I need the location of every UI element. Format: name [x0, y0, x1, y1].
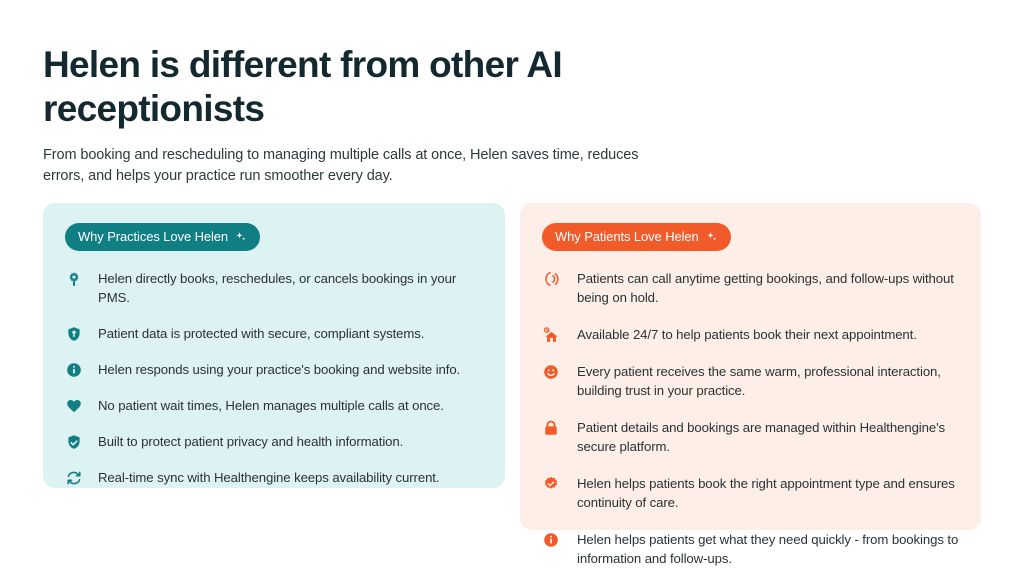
card-why-patients-love-helen: Why Patients Love Helen [520, 203, 981, 530]
list-item: Every patient receives the same warm, pr… [542, 362, 959, 400]
list-item-text: Patient data is protected with secure, c… [98, 324, 424, 343]
list-item: Helen responds using your practice's boo… [65, 360, 483, 379]
info-circle-icon [542, 531, 560, 549]
heart-icon [65, 397, 83, 415]
slide-root: Helen is different from other AI recepti… [0, 0, 1024, 576]
phone-ringing-icon [542, 270, 560, 288]
page-subtitle: From booking and rescheduling to managin… [43, 145, 663, 187]
list-item: Real-time sync with Healthengine keeps a… [65, 468, 483, 487]
list-item: Helen directly books, reschedules, or ca… [65, 269, 483, 307]
list-item-text: Real-time sync with Healthengine keeps a… [98, 468, 439, 487]
badge-label: Why Patients Love Helen [555, 229, 699, 244]
header: Helen is different from other AI recepti… [43, 43, 663, 187]
list-item-text: Helen helps patients book the right appo… [577, 474, 959, 512]
shield-check-icon [65, 433, 83, 451]
smiley-face-icon [542, 363, 560, 381]
list-item: Helen helps patients get what they need … [542, 530, 959, 568]
page-title: Helen is different from other AI recepti… [43, 43, 663, 131]
list-item-text: Built to protect patient privacy and hea… [98, 432, 403, 451]
feature-list-practices: Helen directly books, reschedules, or ca… [65, 269, 483, 487]
list-item-text: Patients can call anytime getting bookin… [577, 269, 959, 307]
sparkle-icon [706, 231, 718, 243]
info-circle-icon [65, 361, 83, 379]
list-item: Available 24/7 to help patients book the… [542, 325, 959, 344]
list-item: No patient wait times, Helen manages mul… [65, 396, 483, 415]
gear-icon [65, 270, 83, 288]
check-badge-icon [542, 475, 560, 493]
badge-why-patients-love-helen[interactable]: Why Patients Love Helen [542, 223, 731, 251]
sync-icon [65, 469, 83, 487]
list-item-text: Helen directly books, reschedules, or ca… [98, 269, 473, 307]
list-item: Patient data is protected with secure, c… [65, 324, 483, 343]
card-why-practices-love-helen: Why Practices Love Helen [43, 203, 505, 488]
list-item: Patients can call anytime getting bookin… [542, 269, 959, 307]
list-item: Built to protect patient privacy and hea… [65, 432, 483, 451]
badge-why-practices-love-helen[interactable]: Why Practices Love Helen [65, 223, 260, 251]
list-item-text: Every patient receives the same warm, pr… [577, 362, 959, 400]
list-item-text: Patient details and bookings are managed… [577, 418, 959, 456]
feature-list-patients: Patients can call anytime getting bookin… [542, 269, 959, 568]
badge-label: Why Practices Love Helen [78, 229, 228, 244]
list-item: Patient details and bookings are managed… [542, 418, 959, 456]
house-clock-icon [542, 326, 560, 344]
lock-icon [542, 419, 560, 437]
list-item: Helen helps patients book the right appo… [542, 474, 959, 512]
shield-icon [65, 325, 83, 343]
sparkle-icon [235, 231, 247, 243]
list-item-text: Available 24/7 to help patients book the… [577, 325, 917, 344]
list-item-text: No patient wait times, Helen manages mul… [98, 396, 444, 415]
list-item-text: Helen responds using your practice's boo… [98, 360, 460, 379]
list-item-text: Helen helps patients get what they need … [577, 530, 959, 568]
